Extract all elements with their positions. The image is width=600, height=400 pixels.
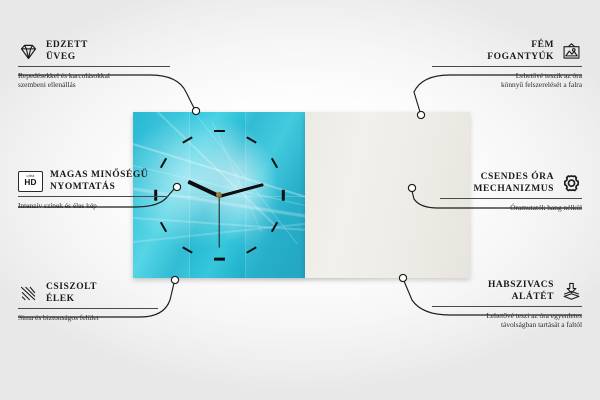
feature-header: ultra HD MAGAS MINŐSÉGŰ NYOMTATÁS xyxy=(18,170,168,193)
feature-title-line2: NYOMTATÁS xyxy=(50,182,148,194)
clock-tick xyxy=(182,136,193,143)
feature-title: HABSZIVACS ALÁTÉT xyxy=(488,280,554,303)
feature-desc-line1: Repedésekkel és karcolásokkal xyxy=(18,71,110,80)
foam-pad-icon xyxy=(561,281,582,302)
polished-edge-icon xyxy=(18,283,39,304)
feature-title-line2: FOGANTYÚK xyxy=(487,52,554,64)
feature-title: FÉM FOGANTYÚK xyxy=(487,40,554,63)
feature-header: FÉM FOGANTYÚK xyxy=(432,40,582,63)
feature-title-line1: FÉM xyxy=(531,40,554,50)
clock-tick xyxy=(160,222,167,233)
clock-second-hand xyxy=(218,196,219,248)
diamond-icon xyxy=(18,41,39,62)
feature-title-line1: EDZETT xyxy=(46,40,88,50)
feature-title-line1: MAGAS MINŐSÉGŰ xyxy=(50,170,148,180)
feature-title-line2: ÜVEG xyxy=(46,52,88,64)
clock-tick xyxy=(282,189,285,200)
feature-title: CSISZOLT ÉLEK xyxy=(46,282,97,305)
feature-desc-line1: Óramutatók hang nélkül xyxy=(510,203,582,212)
feature-header: CSISZOLT ÉLEK xyxy=(18,282,158,305)
feature-title-line2: MECHANIZMUS xyxy=(474,184,554,196)
feature-title-line1: CSISZOLT xyxy=(46,282,97,292)
feature-description: Óramutatók hang nélkül xyxy=(440,199,582,212)
feature-desc-line2: könnyű felszerelését a falra xyxy=(432,80,582,89)
feature-title-line2: ÉLEK xyxy=(46,294,97,306)
feature-title-line2: ALÁTÉT xyxy=(488,292,554,304)
clock-tick xyxy=(214,130,225,133)
feature-polished-edges: CSISZOLT ÉLEK Sima és biztonságos felüle… xyxy=(18,282,158,322)
clock-tick xyxy=(271,158,278,169)
feature-desc-line1: Lehetővé teszi az óra egyenletes xyxy=(486,311,582,320)
feature-title: CSENDES ÓRA MECHANIZMUS xyxy=(474,172,554,195)
clock-center-pin xyxy=(216,192,222,198)
feature-tempered-glass: EDZETT ÜVEG Repedésekkel és karcolásokka… xyxy=(18,40,170,89)
clock-tick xyxy=(214,258,225,261)
feature-silent-mechanism: CSENDES ÓRA MECHANIZMUS Óramutatók hang … xyxy=(440,172,582,212)
feature-desc-line1: Lehetővé teszik az óra xyxy=(516,71,582,80)
feature-header: CSENDES ÓRA MECHANIZMUS xyxy=(440,172,582,195)
product-image xyxy=(133,112,470,278)
feature-desc-line1: Intenzív színek és éles kép xyxy=(18,201,97,210)
feature-header: EDZETT ÜVEG xyxy=(18,40,170,63)
feature-description: Sima és biztonságos felület xyxy=(18,309,158,322)
feature-desc-line2: szembeni ellenállás xyxy=(18,80,170,89)
feature-description: Repedésekkel és karcolásokkal szembeni e… xyxy=(18,67,170,89)
clock-tick xyxy=(182,247,193,254)
feature-title: MAGAS MINŐSÉGŰ NYOMTATÁS xyxy=(50,170,148,193)
feature-foam-pad: HABSZIVACS ALÁTÉT Lehetővé teszi az óra … xyxy=(432,280,582,329)
clock-hour-hand xyxy=(187,180,220,198)
clock-tick xyxy=(246,136,257,143)
clock-tick xyxy=(271,222,278,233)
feature-metal-handles: FÉM FOGANTYÚK Lehetővé teszik az óra kön… xyxy=(432,40,582,89)
feature-title-line1: HABSZIVACS xyxy=(488,280,554,290)
feature-description: Lehetővé teszi az óra egyenletes távolsá… xyxy=(432,307,582,329)
picture-hanger-icon xyxy=(561,41,582,62)
badge-main-label: HD xyxy=(24,179,36,187)
feature-description: Lehetővé teszik az óra könnyű felszerelé… xyxy=(432,67,582,89)
feature-title-line1: CSENDES ÓRA xyxy=(481,172,554,182)
clock-minute-hand xyxy=(219,183,264,198)
feature-high-quality-print: ultra HD MAGAS MINŐSÉGŰ NYOMTATÁS Intenz… xyxy=(18,170,168,210)
clock-tick xyxy=(246,247,257,254)
feature-desc-line2: távolságban tartását a faltól xyxy=(432,320,582,329)
gear-icon xyxy=(561,173,582,194)
feature-desc-line1: Sima és biztonságos felület xyxy=(18,313,99,322)
infographic-canvas: EDZETT ÜVEG Repedésekkel és karcolásokka… xyxy=(0,0,600,400)
ultra-hd-badge-icon: ultra HD xyxy=(18,171,43,192)
clock-tick xyxy=(160,158,167,169)
feature-title: EDZETT ÜVEG xyxy=(46,40,88,63)
feature-description: Intenzív színek és éles kép xyxy=(18,197,168,210)
feature-header: HABSZIVACS ALÁTÉT xyxy=(432,280,582,303)
